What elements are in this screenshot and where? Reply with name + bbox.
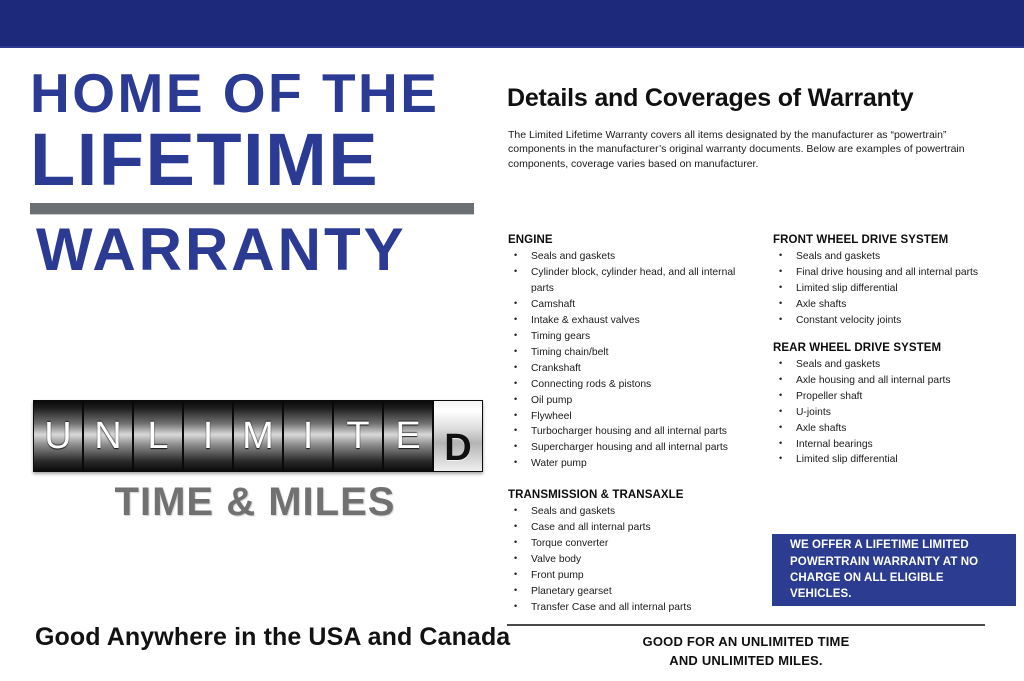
list-item: Cylinder block, cylinder head, and all i… [508, 265, 758, 297]
no-charge-callout-text: WE OFFER A LIFETIME LIMITED POWERTRAIN W… [772, 537, 1016, 602]
list-item: Valve body [508, 552, 758, 568]
details-heading: Details and Coverages of Warranty [507, 84, 914, 113]
list-item: Front pump [508, 568, 758, 584]
section-list-engine: Seals and gasketsCylinder block, cylinde… [508, 249, 758, 472]
list-item: Final drive housing and all internal par… [773, 265, 1023, 281]
odometer-char: T [346, 417, 369, 455]
footer-divider-rule [507, 624, 985, 626]
list-item: Timing chain/belt [508, 345, 758, 361]
list-item: Oil pump [508, 393, 758, 409]
list-item: Seals and gaskets [508, 504, 758, 520]
top-banner-bar [0, 0, 1024, 46]
list-item: Timing gears [508, 329, 758, 345]
section-list-front-wheel-drive: Seals and gasketsFinal drive housing and… [773, 249, 1023, 329]
list-item: Transfer Case and all internal parts [508, 600, 758, 616]
list-item: Axle housing and all internal parts [773, 373, 1023, 389]
odometer-char: I [203, 417, 214, 455]
odometer-cell: I [184, 401, 234, 471]
list-item: Limited slip differential [773, 281, 1023, 297]
time-and-miles-label: TIME & MILES [33, 480, 477, 525]
footer-note-line-2: AND UNLIMITED MILES. [507, 652, 985, 671]
odometer-char: U [44, 417, 71, 455]
odometer-char: E [395, 417, 420, 455]
list-item: Internal bearings [773, 437, 1023, 453]
list-item: Water pump [508, 456, 758, 472]
right-panel: Details and Coverages of Warranty The Li… [500, 48, 1024, 681]
list-item: Case and all internal parts [508, 520, 758, 536]
left-panel: HOME OF THE LIFETIME WARRANTY UNLIMITED … [0, 48, 500, 681]
list-item: Constant velocity joints [773, 313, 1023, 329]
list-item: Connecting rods & pistons [508, 377, 758, 393]
details-intro-paragraph: The Limited Lifetime Warranty covers all… [508, 128, 1006, 171]
list-item: Supercharger housing and all internal pa… [508, 440, 758, 456]
list-item: Propeller shaft [773, 389, 1023, 405]
list-item: Flywheel [508, 409, 758, 425]
odometer-cell: D [434, 401, 482, 471]
odometer-cell: N [84, 401, 134, 471]
no-charge-callout-box: WE OFFER A LIFETIME LIMITED POWERTRAIN W… [772, 534, 1016, 606]
section-title-rear-wheel-drive: REAR WHEEL DRIVE SYSTEM [773, 342, 1023, 354]
lifetime-warranty-logo: HOME OF THE LIFETIME WARRANTY [30, 66, 480, 280]
coverage-column-left: ENGINE Seals and gasketsCylinder block, … [508, 234, 758, 616]
footer-note: GOOD FOR AN UNLIMITED TIME AND UNLIMITED… [507, 633, 985, 671]
odometer-char: D [444, 429, 471, 467]
logo-line-home-of-the: HOME OF THE [30, 66, 480, 121]
logo-divider-bar [30, 203, 474, 214]
list-item: Seals and gaskets [773, 249, 1023, 265]
list-item: Torque converter [508, 536, 758, 552]
coverage-column-right: FRONT WHEEL DRIVE SYSTEM Seals and gaske… [773, 234, 1023, 468]
list-item: Seals and gaskets [508, 249, 758, 265]
section-title-front-wheel-drive: FRONT WHEEL DRIVE SYSTEM [773, 234, 1023, 246]
logo-line-lifetime: LIFETIME [30, 123, 480, 197]
list-item: Seals and gaskets [773, 357, 1023, 373]
odometer-cell: I [284, 401, 334, 471]
odometer-cell: L [134, 401, 184, 471]
odometer-char: I [303, 417, 314, 455]
list-item: Crankshaft [508, 361, 758, 377]
good-anywhere-tagline: Good Anywhere in the USA and Canada [35, 623, 510, 652]
odometer-cell: U [34, 401, 84, 471]
odometer-cell: T [334, 401, 384, 471]
list-item: Camshaft [508, 297, 758, 313]
list-item: Turbocharger housing and all internal pa… [508, 424, 758, 440]
list-item: U-joints [773, 405, 1023, 421]
odometer-char: N [94, 417, 121, 455]
section-title-engine: ENGINE [508, 234, 758, 246]
footer-note-line-1: GOOD FOR AN UNLIMITED TIME [507, 633, 985, 652]
odometer-cell: E [384, 401, 434, 471]
logo-line-warranty: WARRANTY [36, 220, 480, 280]
section-list-transmission: Seals and gasketsCase and all internal p… [508, 504, 758, 616]
odometer-cell: M [234, 401, 284, 471]
list-item: Intake & exhaust valves [508, 313, 758, 329]
list-item: Axle shafts [773, 297, 1023, 313]
section-title-transmission: TRANSMISSION & TRANSAXLE [508, 489, 758, 501]
list-item: Planetary gearset [508, 584, 758, 600]
list-item: Axle shafts [773, 421, 1023, 437]
column-spacer [773, 329, 1023, 342]
odometer-char: L [147, 417, 168, 455]
section-list-rear-wheel-drive: Seals and gasketsAxle housing and all in… [773, 357, 1023, 469]
column-spacer [508, 472, 758, 489]
list-item: Limited slip differential [773, 452, 1023, 468]
odometer-graphic: UNLIMITED [33, 400, 483, 472]
odometer-char: M [242, 417, 274, 455]
